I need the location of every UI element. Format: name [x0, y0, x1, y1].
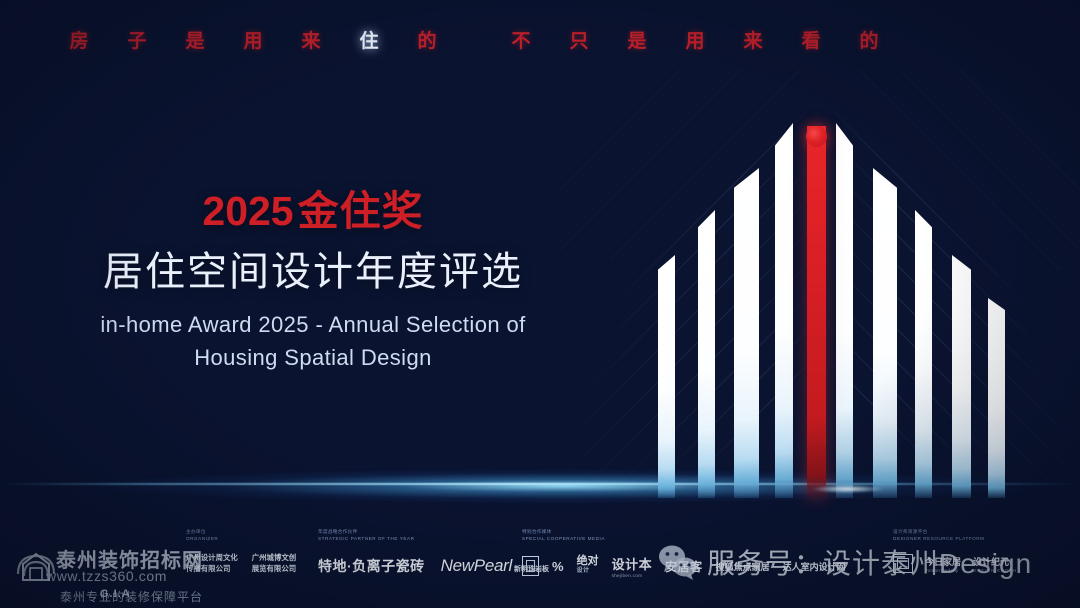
brand-mark-square-icon: [522, 556, 539, 576]
slogan-char: 用: [224, 28, 282, 56]
slogan-char: 不: [492, 28, 550, 56]
graphic-bar: [658, 255, 675, 498]
slogan-char: 是: [166, 28, 224, 56]
brand-tedi: 特地·负离子瓷砖: [318, 556, 425, 576]
brand-newpearl-en: NewPearl: [441, 556, 512, 576]
graphic-red-i-dot: [806, 126, 827, 147]
slogan-char: 的: [398, 28, 456, 56]
brand-shejiben-url: shejiben.com: [612, 573, 653, 578]
page-title-en-line2: Housing Spatial Design: [78, 341, 548, 374]
graphic-bar: [836, 123, 853, 498]
house-bars-graphic: [630, 118, 1030, 498]
slogan-char: 子: [108, 28, 166, 56]
partner-name: 广州城博文创展览有限公司: [252, 553, 296, 574]
award-year: 2025: [202, 188, 293, 234]
graphic-bar: [915, 210, 932, 498]
slogan-char: 来: [724, 28, 782, 56]
slogan-right-group: 不 只 是 用 来 看 的: [492, 28, 898, 56]
slogan-char-highlight: 住: [340, 28, 398, 56]
watermark-right: 服务号：设计泰州Design: [655, 536, 1032, 588]
slogan-char: 来: [282, 28, 340, 56]
graphic-bar: [873, 168, 897, 498]
watermark-left: 泰州装饰招标网 www.tzzs360.com 泰州专业的装修保障平台 G.I.…: [8, 532, 238, 604]
partner-heading-en: STRATEGIC PARTNER OF THE YEAR: [318, 535, 549, 542]
graphic-bar-red-i-stem: [807, 126, 826, 498]
partner-heading-cn: 设计师资源平台: [893, 528, 1017, 535]
graphic-bar: [775, 123, 793, 498]
title-block: 2025金住奖 居住空间设计年度评选 in-home Award 2025 - …: [78, 186, 548, 374]
slogan-char: 的: [840, 28, 898, 56]
slogan-char: 房: [50, 28, 108, 56]
partner-group-strategic: 年度战略合作伙伴 STRATEGIC PARTNER OF THE YEAR 特…: [318, 528, 549, 576]
watermark-tagline: 泰州专业的装修保障平台: [60, 588, 203, 605]
graphic-bar: [952, 255, 971, 498]
graphic-bar: [698, 210, 715, 498]
award-name: 金住奖: [298, 188, 424, 234]
partner-heading-cn: 特别合作媒体: [522, 528, 846, 535]
watermark-wechat-text: 服务号：设计泰州Design: [707, 542, 1032, 582]
partner-brand-list: 特地·负离子瓷砖 NewPearl 新明珠岩板: [318, 556, 549, 576]
watermark-site-url: www.tzzs360.com: [46, 568, 167, 584]
gia-badge: G.I.A: [100, 588, 131, 600]
partner-group-heading: 年度战略合作伙伴 STRATEGIC PARTNER OF THE YEAR: [318, 528, 549, 542]
award-name-line: 2025金住奖: [78, 186, 548, 236]
brand-slash-icon: %: [552, 559, 564, 574]
top-slogan: 房 子 是 用 来 住 的 不 只 是 用 来 看 的: [50, 28, 1030, 56]
brand-juedui-sheji: 绝对 设计: [577, 556, 599, 576]
page-title-en: in-home Award 2025 - Annual Selection of…: [78, 308, 548, 374]
graphic-bar: [988, 298, 1005, 498]
wechat-icon: [655, 543, 699, 581]
page-title-en-line1: in-home Award 2025 - Annual Selection of: [78, 308, 548, 341]
graphic-bar: [734, 168, 759, 498]
partner-heading-cn: 年度战略合作伙伴: [318, 528, 549, 535]
slogan-char: 用: [666, 28, 724, 56]
slogan-char: 是: [608, 28, 666, 56]
brand-shejiben: 设计本 shejiben.com: [612, 554, 653, 578]
slogan-char: 只: [550, 28, 608, 56]
brand-shejiben-cn: 设计本: [612, 557, 653, 572]
graphic-base-highlight: [802, 484, 894, 494]
slogan-char: 看: [782, 28, 840, 56]
slogan-left-group: 房 子 是 用 来 住 的: [50, 28, 456, 56]
brand-juedui-line2: 设计: [577, 566, 599, 576]
poster-canvas: 房 子 是 用 来 住 的 不 只 是 用 来 看 的 2025金住奖 居住空间…: [0, 0, 1080, 608]
page-title-cn: 居住空间设计年度评选: [78, 242, 548, 302]
